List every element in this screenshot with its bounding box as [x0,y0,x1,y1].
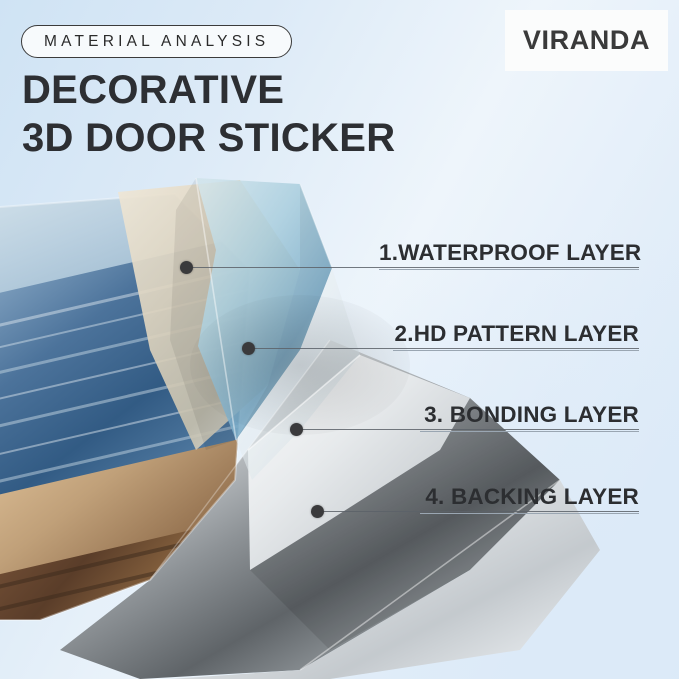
layer-label-rule-1 [379,269,639,270]
layer-label-rule-3 [420,431,639,432]
title-line-1: DECORATIVE [22,66,492,114]
layer-marker-dot-3 [290,423,303,436]
layer-marker-dot-1 [180,261,193,274]
layer-label-rule-2 [393,350,639,351]
layer-marker-dot-2 [242,342,255,355]
layer-callout-4: 4. BACKING LAYER [420,484,639,514]
material-analysis-badge: MATERIAL ANALYSIS [21,25,292,58]
layer-marker-dot-4 [311,505,324,518]
layer-callout-3: 3. BONDING LAYER [420,402,639,432]
badge-label: MATERIAL ANALYSIS [44,33,269,51]
layer-label-4: 4. BACKING LAYER [420,484,639,510]
layer-label-2: 2.HD PATTERN LAYER [393,321,639,347]
layer-callout-1: 1.WATERPROOF LAYER [379,240,639,270]
brand-logo: VIRANDA [505,10,668,71]
layer-label-rule-4 [420,513,639,514]
title-line-2: 3D DOOR STICKER [22,114,492,162]
material-analysis-poster: MATERIAL ANALYSIS DECORATIVE 3D DOOR STI… [0,0,679,679]
page-title: DECORATIVE 3D DOOR STICKER [22,66,492,162]
layer-callout-2: 2.HD PATTERN LAYER [393,321,639,351]
layer-label-3: 3. BONDING LAYER [420,402,639,428]
brand-logo-text: VIRANDA [523,25,650,56]
center-ambient-shadow [190,295,410,435]
layer-label-1: 1.WATERPROOF LAYER [379,240,639,266]
